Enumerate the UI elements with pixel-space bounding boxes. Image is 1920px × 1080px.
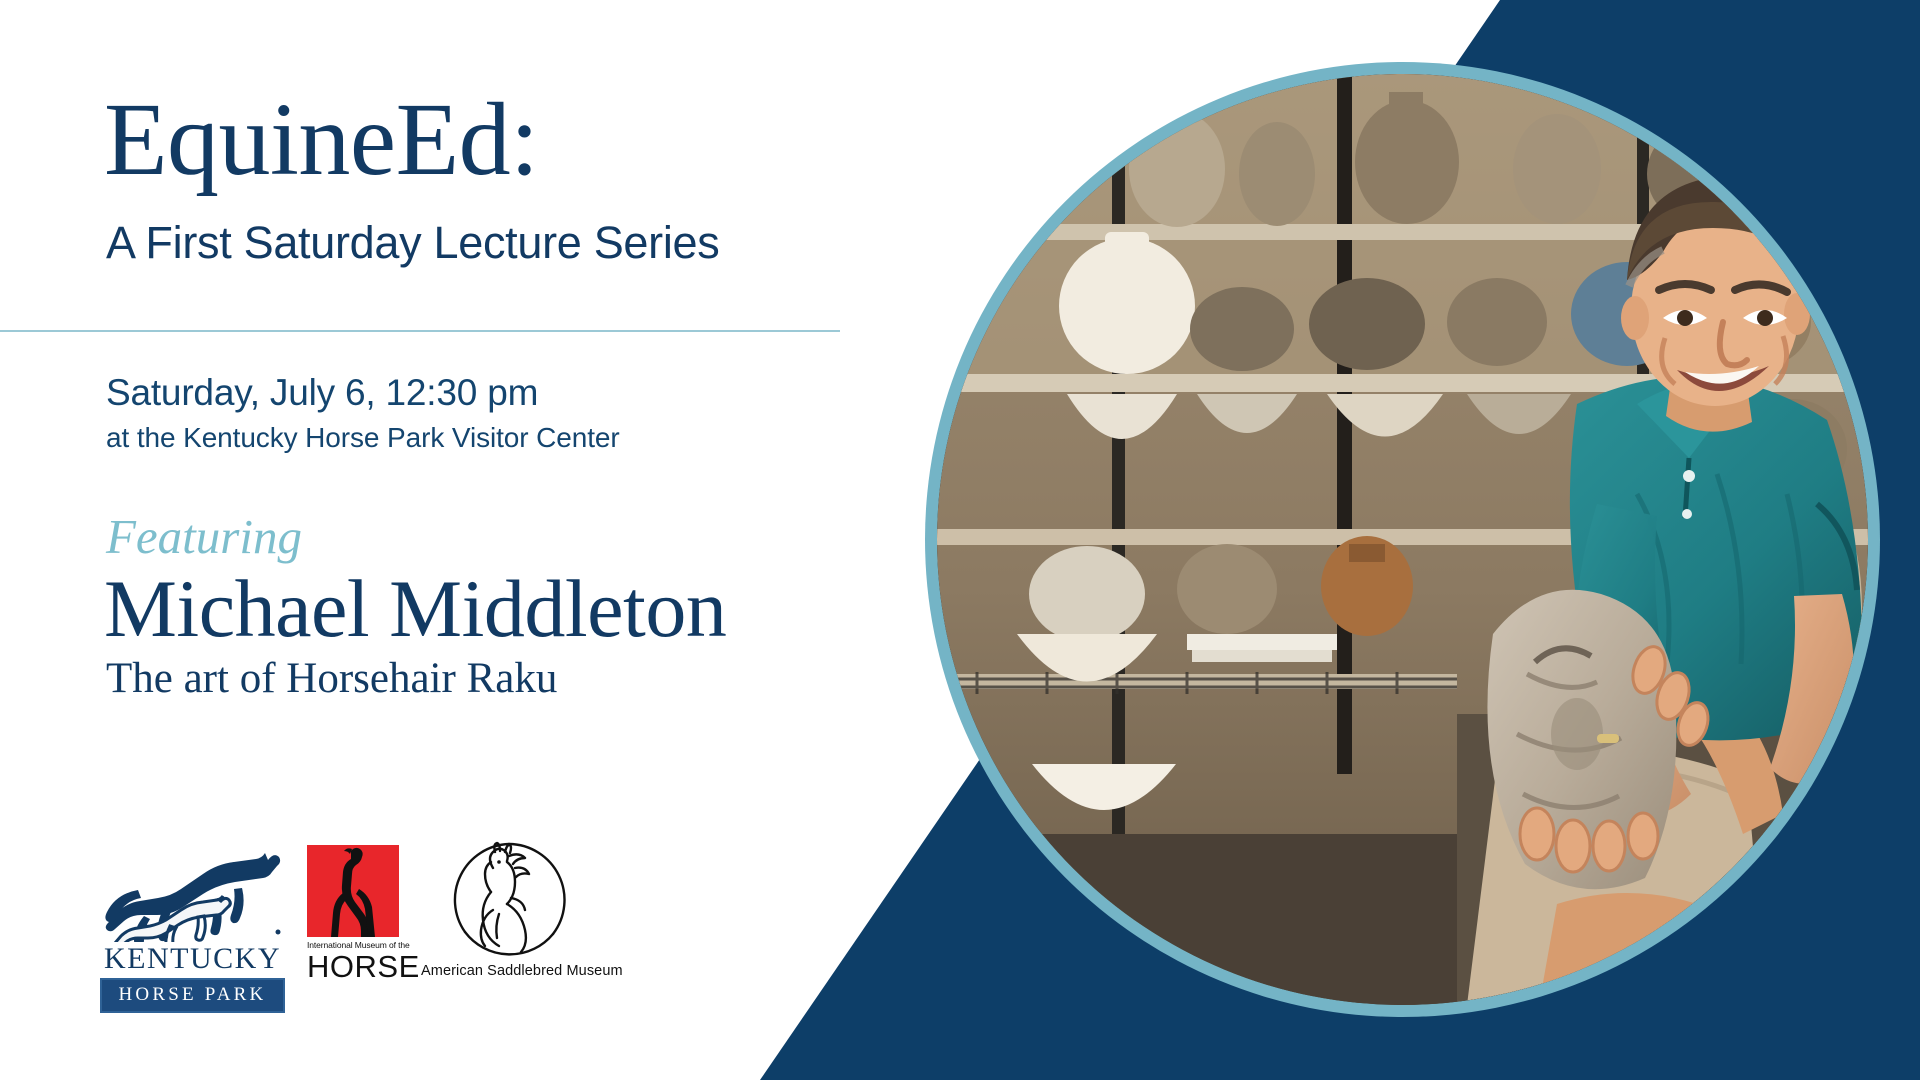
khp-wordmark: KENTUCKY <box>100 944 285 974</box>
horse-silhouette-icon <box>307 845 399 937</box>
page-subtitle: A First Saturday Lecture Series <box>106 218 719 268</box>
page-title: EquineEd: <box>104 88 539 192</box>
event-venue: at the Kentucky Horse Park Visitor Cente… <box>106 422 620 454</box>
kentucky-horse-park-logo: KENTUCKY HORSE PARK <box>100 850 285 1000</box>
speaker-photo <box>937 74 1868 1005</box>
talk-title: The art of Horsehair Raku <box>106 654 557 703</box>
mare-and-foal-icon <box>100 850 285 942</box>
event-poster: EquineEd: A First Saturday Lecture Serie… <box>0 0 1920 1080</box>
imh-red-square <box>307 845 399 937</box>
section-divider <box>0 330 840 332</box>
event-date: Saturday, July 6, 12:30 pm <box>106 372 538 414</box>
poster-content: EquineEd: A First Saturday Lecture Serie… <box>0 0 980 1080</box>
asm-caption: American Saddlebred Museum <box>421 964 596 979</box>
partner-logos: KENTUCKY HORSE PARK International Museum… <box>100 820 700 1000</box>
speaker-photo-illustration <box>937 74 1868 1005</box>
international-museum-of-the-horse-logo: International Museum of the HORSE <box>307 845 399 1000</box>
featuring-label: Featuring <box>106 508 302 565</box>
american-saddlebred-museum-logo: American Saddlebred Museum <box>421 840 596 1000</box>
saddlebred-horse-circle-icon <box>449 840 569 958</box>
speaker-photo-ring <box>925 62 1880 1017</box>
imh-wordmark: HORSE <box>307 951 399 982</box>
speaker-name: Michael Middleton <box>104 562 726 656</box>
khp-subwordmark: HORSE PARK <box>100 978 285 1013</box>
